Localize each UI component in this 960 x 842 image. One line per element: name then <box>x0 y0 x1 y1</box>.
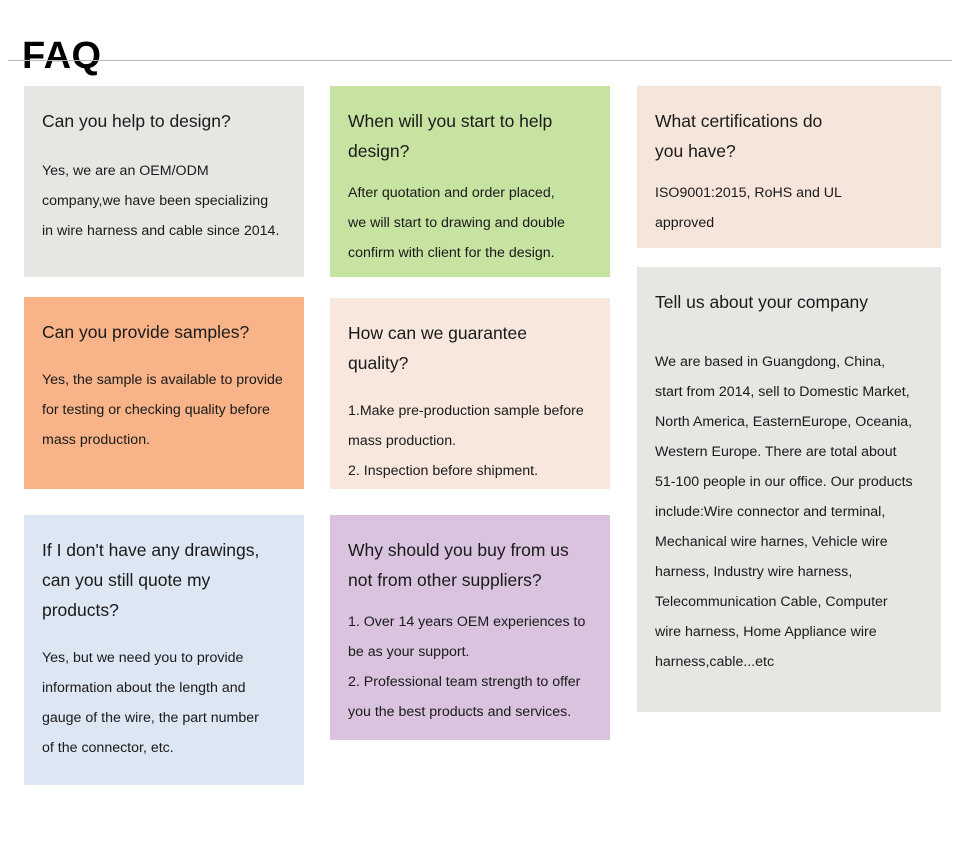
faq-answer: ISO9001:2015, RoHS and UL approved <box>655 178 923 238</box>
faq-question: When will you start to help design? <box>348 106 592 166</box>
faq-card-quality: How can we guarantee quality? 1.Make pre… <box>330 298 610 489</box>
faq-question: Why should you buy from us not from othe… <box>348 535 592 595</box>
title-divider <box>8 60 952 61</box>
faq-answer: Yes, the sample is available to provide … <box>42 365 286 455</box>
faq-card-drawings: If I don't have any drawings, can you st… <box>24 515 304 785</box>
faq-card-why-us: Why should you buy from us not from othe… <box>330 515 610 740</box>
faq-card-design: Can you help to design? Yes, we are an O… <box>24 86 304 277</box>
faq-answer: 1.Make pre-production sample before mass… <box>348 396 592 486</box>
faq-question: Tell us about your company <box>655 287 923 317</box>
faq-question: How can we guarantee quality? <box>348 318 592 378</box>
faq-question: Can you help to design? <box>42 106 286 136</box>
page-title: FAQ <box>22 33 102 79</box>
faq-answer: We are based in Guangdong, China, start … <box>655 347 923 677</box>
faq-card-certifications: What certifications do you have? ISO9001… <box>637 86 941 248</box>
faq-question: If I don't have any drawings, can you st… <box>42 535 286 625</box>
faq-page: FAQ Can you help to design? Yes, we are … <box>0 0 960 842</box>
faq-answer: Yes, we are an OEM/ODM company,we have b… <box>42 156 286 246</box>
faq-card-company: Tell us about your company We are based … <box>637 267 941 712</box>
faq-card-samples: Can you provide samples? Yes, the sample… <box>24 297 304 489</box>
faq-answer: After quotation and order placed, we wil… <box>348 178 592 268</box>
faq-question: Can you provide samples? <box>42 317 286 347</box>
faq-card-start-design: When will you start to help design? Afte… <box>330 86 610 277</box>
faq-question: What certifications do you have? <box>655 106 923 166</box>
faq-answer: Yes, but we need you to provide informat… <box>42 643 286 763</box>
faq-answer: 1. Over 14 years OEM experiences to be a… <box>348 607 592 727</box>
